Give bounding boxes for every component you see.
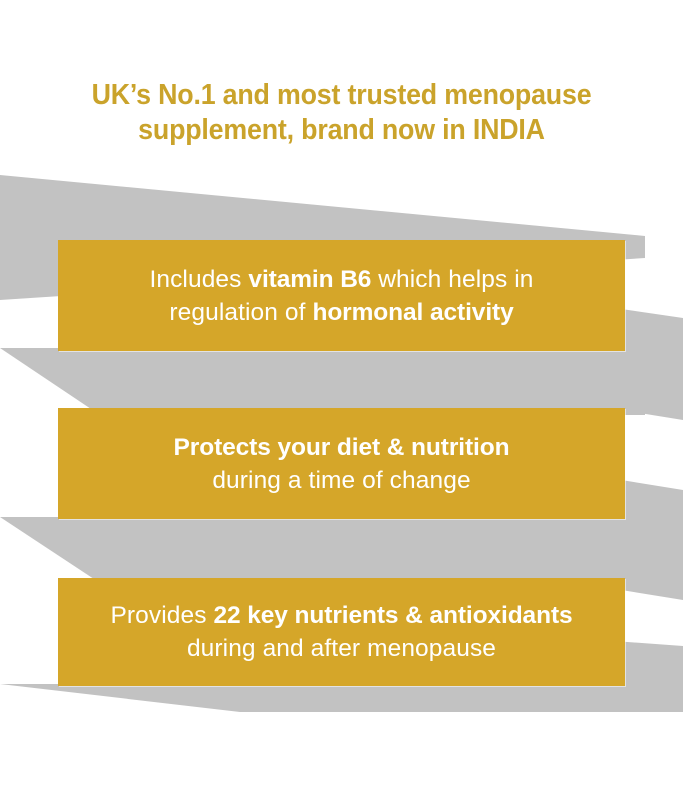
panel-1-line-2-bold: hormonal activity bbox=[312, 299, 513, 326]
benefit-panel-vitamin-b6: Includes vitamin B6 which helps in regul… bbox=[58, 240, 625, 351]
panel-1-line-1-bold: vitamin B6 bbox=[248, 266, 371, 293]
benefit-panel-diet-nutrition: Protects your diet & nutrition during a … bbox=[58, 408, 625, 519]
panel-3-line-2-pre: during and after menopause bbox=[187, 635, 496, 662]
panel-3-line-1-pre: Provides bbox=[110, 602, 213, 629]
panel-1-line-1: Includes vitamin B6 which helps in bbox=[58, 263, 625, 296]
ribbon-segment-middle-upper bbox=[0, 348, 645, 415]
panel-1-line-1-pre: Includes bbox=[149, 266, 248, 293]
panel-1-line-2: regulation of hormonal activity bbox=[58, 296, 625, 329]
page-headline: UK’s No.1 and most trusted menopause sup… bbox=[20, 78, 662, 148]
panel-2-line-1-bold: Protects your diet & nutrition bbox=[174, 434, 510, 461]
panel-3-line-2: during and after menopause bbox=[58, 632, 625, 665]
panel-3-line-1: Provides 22 key nutrients & antioxidants bbox=[58, 599, 625, 632]
panel-2-line-2-pre: during a time of change bbox=[212, 467, 470, 494]
ribbon-segment-bottom bbox=[0, 684, 645, 712]
ribbon-segment-middle-lower bbox=[0, 517, 645, 583]
panel-3-line-1-bold: 22 key nutrients & antioxidants bbox=[213, 602, 572, 629]
panel-2-line-2: during a time of change bbox=[58, 464, 625, 497]
panel-2-line-1: Protects your diet & nutrition bbox=[58, 431, 625, 464]
infographic-canvas: UK’s No.1 and most trusted menopause sup… bbox=[0, 0, 683, 800]
headline-line-1: UK’s No.1 and most trusted menopause bbox=[20, 78, 662, 113]
panel-1-line-1-post: which helps in bbox=[371, 266, 533, 293]
panel-1-line-2-pre: regulation of bbox=[169, 299, 312, 326]
headline-line-2: supplement, brand now in INDIA bbox=[20, 113, 662, 148]
benefit-panel-22-nutrients: Provides 22 key nutrients & antioxidants… bbox=[58, 578, 625, 686]
